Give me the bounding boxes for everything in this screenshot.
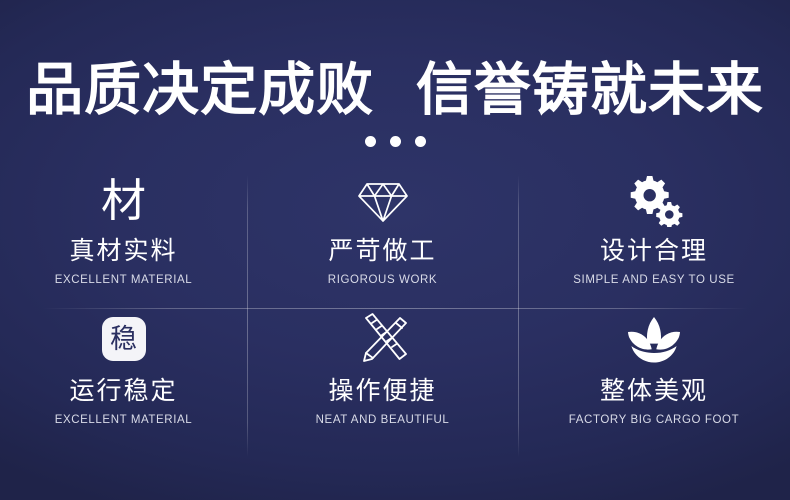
feature-title-en: RIGOROUS WORK [328,272,437,288]
dot-2-icon [390,136,401,147]
feature-title-en: FACTORY BIG CARGO FOOT [569,412,739,428]
feature-icon-wrap [623,308,685,370]
promo-banner: 品质决定成败 信誉铸就未来 材 真材实料 EXCELLENT MATERIAL [0,0,790,500]
character-cai-icon: 材 [101,176,146,226]
feature-cell-rigorous-work: 严苛做工 RIGOROUS WORK [247,172,518,308]
diamond-icon [356,177,410,225]
feature-title-cn: 运行稳定 [69,376,177,406]
feature-title-en: NEAT AND BEAUTIFUL [316,412,450,428]
feature-icon-wrap [354,308,412,370]
page-title: 品质决定成败 信誉铸就未来 [0,58,790,122]
feature-title-cn: 设计合理 [600,236,708,266]
feature-icon-wrap [625,172,683,230]
feature-cell-overall-beauty: 整体美观 FACTORY BIG CARGO FOOT [518,308,790,462]
feature-icon-wrap: 材 [101,172,146,230]
feature-grid: 材 真材实料 EXCELLENT MATERIAL 严苛做工 RIG [0,172,790,462]
character-wen-badge-icon: 稳 [102,317,146,361]
feature-title-cn: 严苛做工 [328,236,436,266]
feature-icon-wrap [356,172,410,230]
feature-cell-simple-easy-to-use: 设计合理 SIMPLE AND EASY TO USE [518,172,790,308]
feature-title-en: SIMPLE AND EASY TO USE [573,272,734,288]
dot-separator [0,136,790,147]
feature-title-en: EXCELLENT MATERIAL [55,272,193,288]
feature-title-cn: 操作便捷 [328,376,436,406]
feature-title-cn: 真材实料 [69,236,177,266]
feature-cell-stable-operation: 稳 运行稳定 EXCELLENT MATERIAL [0,308,247,462]
banner-title-wrap: 品质决定成败 信誉铸就未来 [0,58,790,122]
feature-title-en: EXCELLENT MATERIAL [55,412,193,428]
feature-icon-wrap: 稳 [102,308,146,370]
gears-icon [625,175,683,227]
feature-title-cn: 整体美观 [600,376,708,406]
feature-cell-excellent-material: 材 真材实料 EXCELLENT MATERIAL [0,172,247,308]
pencil-ruler-icon [354,312,412,366]
lotus-icon [623,314,685,364]
feature-cell-neat-beautiful: 操作便捷 NEAT AND BEAUTIFUL [247,308,518,462]
dot-3-icon [415,136,426,147]
dot-1-icon [365,136,376,147]
